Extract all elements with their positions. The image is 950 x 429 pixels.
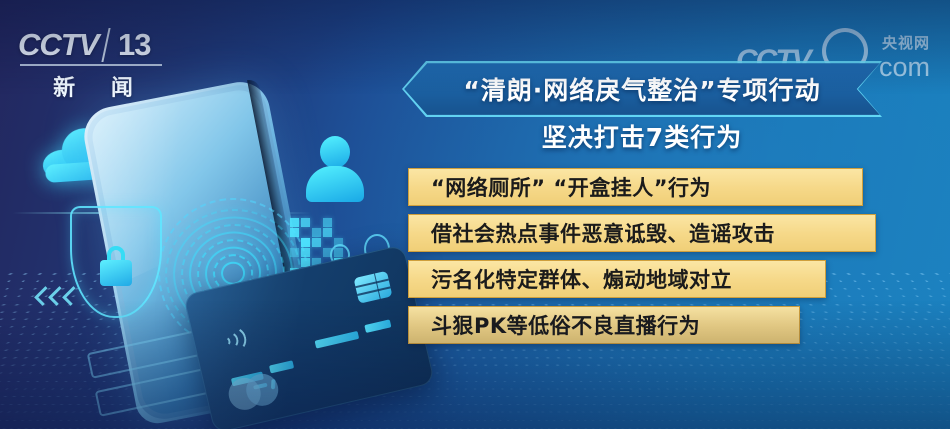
logo-divider <box>20 64 162 66</box>
watermark-site-com: com <box>879 52 930 83</box>
list-item-label: “网络厕所” “开盒挂人”行为 <box>409 172 711 202</box>
list-item: 污名化特定群体、煽动地域对立 <box>408 260 826 298</box>
list-item-label: 借社会热点事件恶意诋毁、造谣攻击 <box>409 218 775 248</box>
cctv-wordmark: CCTV <box>18 28 98 62</box>
list-item: “网络厕所” “开盒挂人”行为 <box>408 168 863 206</box>
list-item-label: 斗狠PK等低俗不良直播行为 <box>409 310 700 340</box>
user-avatar-icon <box>306 136 364 202</box>
violation-list: “网络厕所” “开盒挂人”行为 借社会热点事件恶意诋毁、造谣攻击 污名化特定群体… <box>408 168 878 352</box>
subtitle: 坚决打击7类行为 <box>408 118 876 154</box>
list-item: 斗狠PK等低俗不良直播行为 <box>408 306 800 344</box>
list-item: 借社会热点事件恶意诋毁、造谣攻击 <box>408 214 876 252</box>
title-banner: “清朗·网络戾气整治”专项行动 <box>408 66 876 112</box>
chevron-left-icon <box>38 286 86 308</box>
watermark-site-cn: 央视网 <box>882 32 930 53</box>
channel-number: 13 <box>102 28 162 62</box>
channel-name: 新 闻 <box>18 70 168 102</box>
broadcast-graphic: CCTV 13 新 闻 CCTV 央视网 com “清朗·网络戾气整治”专项行动… <box>0 0 950 429</box>
list-item-label: 污名化特定群体、煽动地域对立 <box>409 264 732 294</box>
cctv13-logo: CCTV 13 新 闻 <box>18 28 168 100</box>
lock-icon <box>100 246 132 286</box>
page-title: “清朗·网络戾气整治”专项行动 <box>408 66 876 112</box>
